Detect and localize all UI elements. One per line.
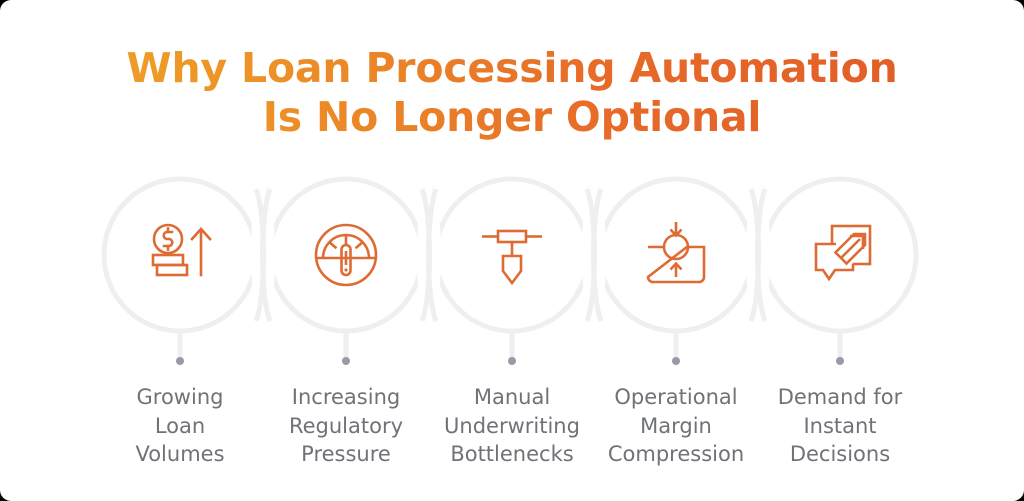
title-line-2: Is No Longer Optional	[0, 93, 1024, 142]
infographic-card: Why Loan Processing Automation Is No Lon…	[0, 0, 1024, 501]
title-line-1: Why Loan Processing Automation	[0, 44, 1024, 93]
margin-compression-icon	[634, 213, 718, 297]
chat-bubbles-arrow-icon	[798, 213, 882, 297]
stem-dot-3	[508, 357, 516, 365]
coins-growth-arrow-icon	[138, 213, 222, 297]
page-title: Why Loan Processing Automation Is No Lon…	[0, 44, 1024, 142]
funnel-bottleneck-icon	[470, 213, 554, 297]
stem-dot-2	[342, 357, 350, 365]
stem-dot-5	[836, 357, 844, 365]
stem-dot-1	[176, 357, 184, 365]
pressure-gauge-icon	[304, 213, 388, 297]
stem-dot-4	[672, 357, 680, 365]
step-label-5: Demand for Instant Decisions	[740, 383, 940, 469]
